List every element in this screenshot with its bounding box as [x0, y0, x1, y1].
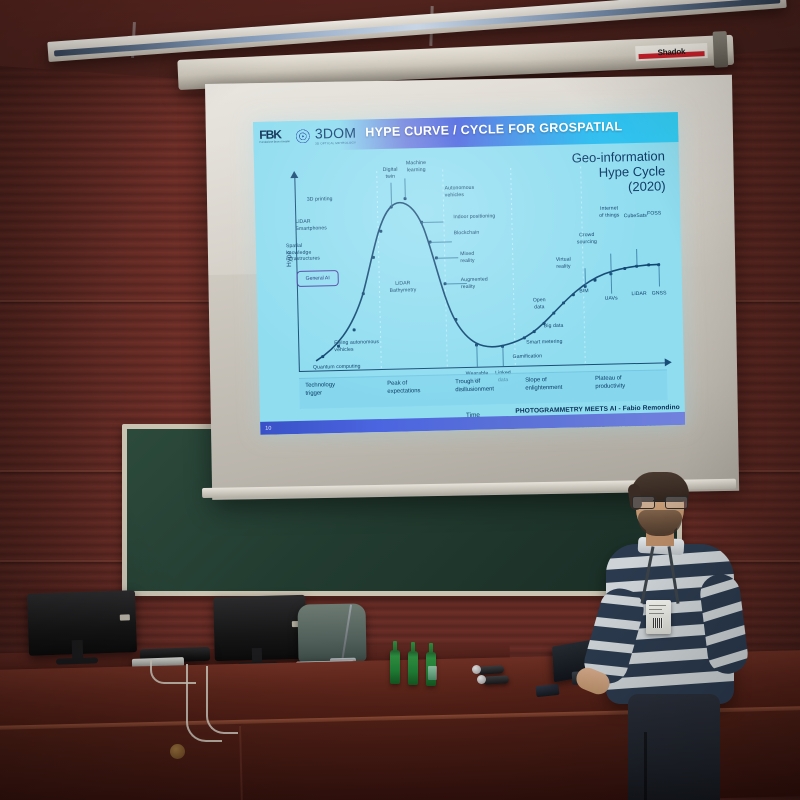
data-point	[454, 318, 457, 321]
data-point	[593, 279, 596, 282]
point-label-gnss: GNSS	[643, 290, 675, 297]
slide-logos: FBK Fondazione Bruno Kessler 3DOM 3D OPT…	[259, 122, 356, 150]
microphone-head	[477, 675, 486, 684]
phase-label-plateau-of-productivity: Plateau of productivity	[595, 375, 625, 392]
point-label-gamification: Gamification	[513, 353, 565, 361]
3dom-logo: 3DOM 3D OPTICAL METROLOGY	[315, 125, 357, 145]
glasses-lens	[665, 496, 688, 509]
data-point	[647, 263, 650, 266]
point-label-3d-printing: 3D printing	[307, 196, 359, 204]
conference-badge	[646, 600, 671, 634]
point-label-mixed-reality: Mixed reality	[460, 250, 504, 264]
beard	[638, 510, 682, 536]
point-label-lidar-smartphones: LiDAR Smartphones	[295, 218, 351, 232]
data-point	[533, 330, 536, 333]
qr-code-icon	[653, 618, 663, 628]
badge-text-line	[649, 605, 666, 606]
data-point	[623, 267, 626, 270]
point-label-flying-autonomous-vehicles: Flying autonomous vehicles	[334, 339, 400, 354]
sweater-stripe	[698, 618, 750, 650]
monitor-sticker	[120, 614, 130, 620]
point-label-open-data: Open data	[523, 297, 555, 311]
badge-text-line	[649, 613, 664, 614]
presenter	[598, 470, 758, 800]
data-point	[552, 312, 555, 315]
phase-label-slope-of-enlightenment: Slope of enlightenment	[525, 377, 562, 394]
glasses-icon	[632, 496, 686, 507]
desk-emblem	[170, 744, 185, 759]
office-chair	[297, 603, 366, 662]
point-label-machine-learning: Machine learning	[394, 160, 438, 174]
data-point	[372, 256, 375, 259]
cable	[206, 666, 238, 734]
badge-text-line	[649, 609, 662, 610]
data-point	[362, 292, 365, 295]
phase-label-peak-of-expectations: Peak of expectations	[387, 380, 420, 397]
shadok-brand-label: Shadok	[635, 43, 708, 61]
point-label-crowd-sourcing: Crowd sourcing	[568, 232, 606, 246]
presenter-legs	[628, 694, 720, 800]
point-label-virtual-reality: Virtual reality	[546, 256, 580, 270]
drinking-glass[interactable]	[428, 666, 437, 680]
point-label-bim: BIM	[571, 288, 597, 295]
water-bottle[interactable]	[390, 650, 400, 684]
trouser-seam	[644, 732, 647, 800]
point-label-foss: FOSS	[639, 210, 669, 217]
brand-text: Shadok	[657, 47, 685, 57]
data-point	[523, 336, 526, 339]
roller-end-cap	[713, 31, 729, 68]
point-label-spatial-knowledge-infrastructures: Spatial knowledge infrastructures	[286, 242, 348, 263]
handheld-microphone[interactable]	[483, 675, 509, 684]
3dom-logo-text: 3DOM	[315, 125, 357, 140]
glasses-lens	[632, 496, 655, 509]
phase-label-trough-of-disillusionment: Trough of disillusionment	[455, 378, 494, 395]
presentation-slide: FBK Fondazione Bruno Kessler 3DOM 3D OPT…	[253, 112, 685, 435]
data-point	[353, 328, 356, 331]
point-label-augmented-reality: Augmented reality	[461, 276, 511, 290]
lecture-hall-photo: Shadok FBK Fondazione Bruno Kessler 3DOM…	[0, 0, 800, 800]
point-label-autonomous-vehicles: Autonomous vehicles	[445, 184, 505, 198]
data-point	[321, 355, 324, 358]
fbk-logo-subtitle: Fondazione Bruno Kessler	[259, 141, 290, 145]
point-label-big-data: Big data	[544, 322, 584, 329]
phase-label-technology-trigger: Technology trigger	[305, 382, 335, 399]
dot-matrix-icon	[295, 128, 310, 143]
water-bottle[interactable]	[408, 651, 418, 685]
point-label-lidar-bathymetry: LiDAR Bathymetry	[375, 280, 431, 294]
3dom-logo-subtitle: 3D OPTICAL METROLOGY	[315, 140, 356, 145]
hype-cycle-chart: Hype	[272, 154, 667, 393]
data-point	[379, 230, 382, 233]
sweater-stripe	[698, 594, 750, 626]
microphone-head	[472, 665, 481, 674]
cable	[150, 660, 196, 684]
slide-number: 10	[265, 425, 271, 431]
glasses-bridge	[653, 500, 665, 501]
fbk-logo: FBK Fondazione Bruno Kessler	[259, 125, 290, 148]
data-point	[562, 301, 565, 304]
